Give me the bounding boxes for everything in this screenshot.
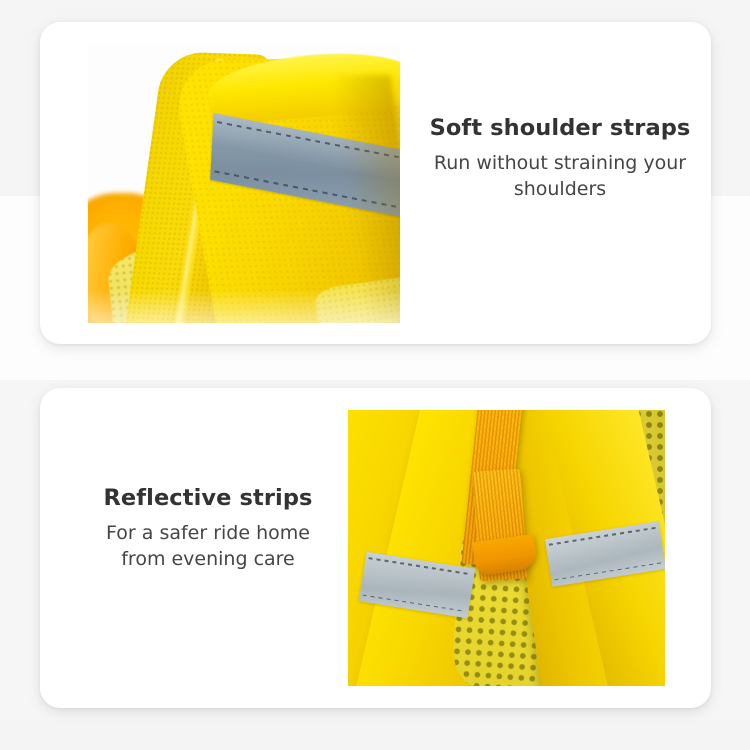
feature-text-block-1: Soft shoulder straps Run without straini… (415, 114, 705, 202)
feature-cards-page: Soft shoulder straps Run without straini… (0, 0, 750, 750)
feature-subtext-1-line-2: shoulders (415, 177, 705, 203)
feature-subtext-2-line-2: from evening care (58, 547, 358, 573)
photo-bottom-fade (88, 289, 400, 323)
feature-subtext-2-line-1: For a safer ride home (58, 521, 358, 547)
feature-card-reflective-strips[interactable]: Reflective strips For a safer ride home … (40, 388, 711, 708)
feature-subtext-1: Run without straining your shoulders (415, 151, 705, 202)
feature-heading-1: Soft shoulder straps (415, 114, 705, 142)
feature-subtext-1-line-1: Run without straining your (415, 151, 705, 177)
feature-text-block-2: Reflective strips For a safer ride home … (58, 484, 358, 572)
feature-subtext-2: For a safer ride home from evening care (58, 521, 358, 572)
product-photo-reflective-strips (348, 410, 665, 686)
feature-card-soft-shoulder-straps[interactable]: Soft shoulder straps Run without straini… (40, 22, 711, 344)
product-photo-shoulder-strap (88, 45, 400, 323)
feature-heading-2: Reflective strips (58, 484, 358, 512)
